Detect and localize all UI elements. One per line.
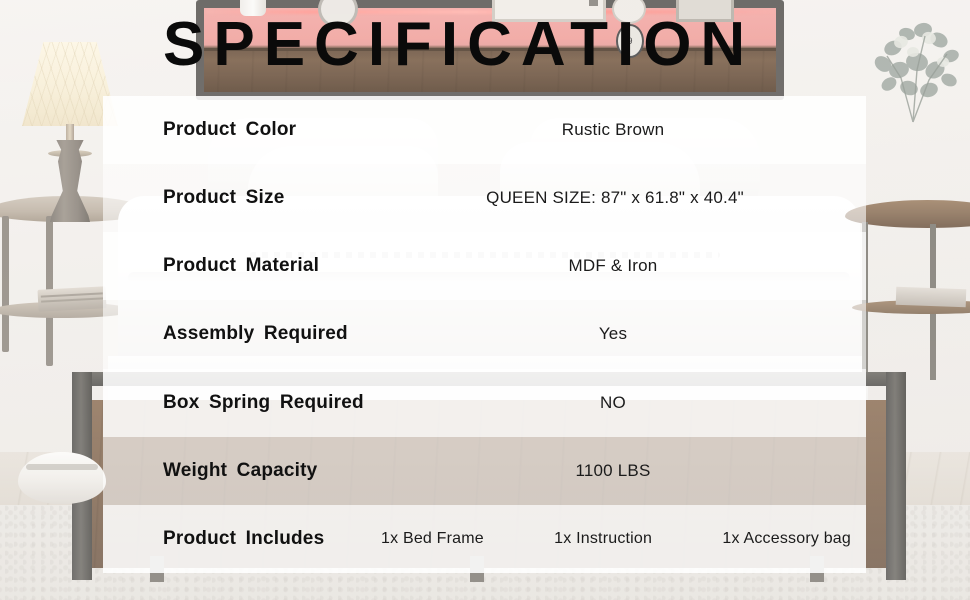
stacked-books [37, 286, 106, 312]
spec-value-product-includes: 1x Bed Frame 1x Instruction 1x Accessory… [381, 530, 851, 548]
spec-value-product-color: Rustic Brown [403, 120, 823, 140]
table-row: Box Spring Required NO [103, 369, 866, 437]
table-row: Product Includes 1x Bed Frame 1x Instruc… [103, 505, 866, 573]
stacked-books [896, 287, 967, 307]
table-row: Product Material MDF & Iron [103, 232, 866, 300]
spec-label-assembly-required: Assembly Required [163, 323, 348, 345]
specification-banner: 9 [0, 0, 970, 600]
spec-label-product-size: Product Size [163, 187, 284, 209]
spec-label-weight-capacity: Weight Capacity [163, 460, 317, 482]
bed-post-right [886, 372, 906, 580]
include-item: 1x Bed Frame [381, 530, 484, 548]
table-row: Product Color Rustic Brown [103, 96, 866, 164]
spec-value-product-material: MDF & Iron [403, 256, 823, 276]
spec-value-assembly-required: Yes [403, 324, 823, 344]
spec-value-product-size: QUEEN SIZE: 87" x 61.8" x 40.4" [385, 188, 845, 208]
robot-vacuum [18, 452, 106, 504]
spec-value-box-spring-required: NO [403, 393, 823, 413]
include-item: 1x Accessory bag [722, 530, 851, 548]
left-nightstand-leg [2, 216, 9, 352]
spec-label-product-color: Product Color [163, 119, 296, 141]
spec-label-box-spring-required: Box Spring Required [163, 392, 364, 414]
spec-value-weight-capacity: 1100 LBS [403, 461, 823, 481]
lamp-neck [66, 124, 74, 142]
eucalyptus-foliage-icon [855, 18, 970, 128]
spec-label-product-includes: Product Includes [163, 528, 324, 550]
table-row: Product Size QUEEN SIZE: 87" x 61.8" x 4… [103, 164, 866, 232]
include-item: 1x Instruction [554, 530, 652, 548]
table-row: Assembly Required Yes [103, 300, 866, 368]
table-row: Weight Capacity 1100 LBS [103, 437, 866, 505]
specification-table: Product Color Rustic Brown Product Size … [103, 96, 866, 573]
page-title: SPECIFICATION [163, 14, 803, 76]
spec-label-product-material: Product Material [163, 255, 319, 277]
